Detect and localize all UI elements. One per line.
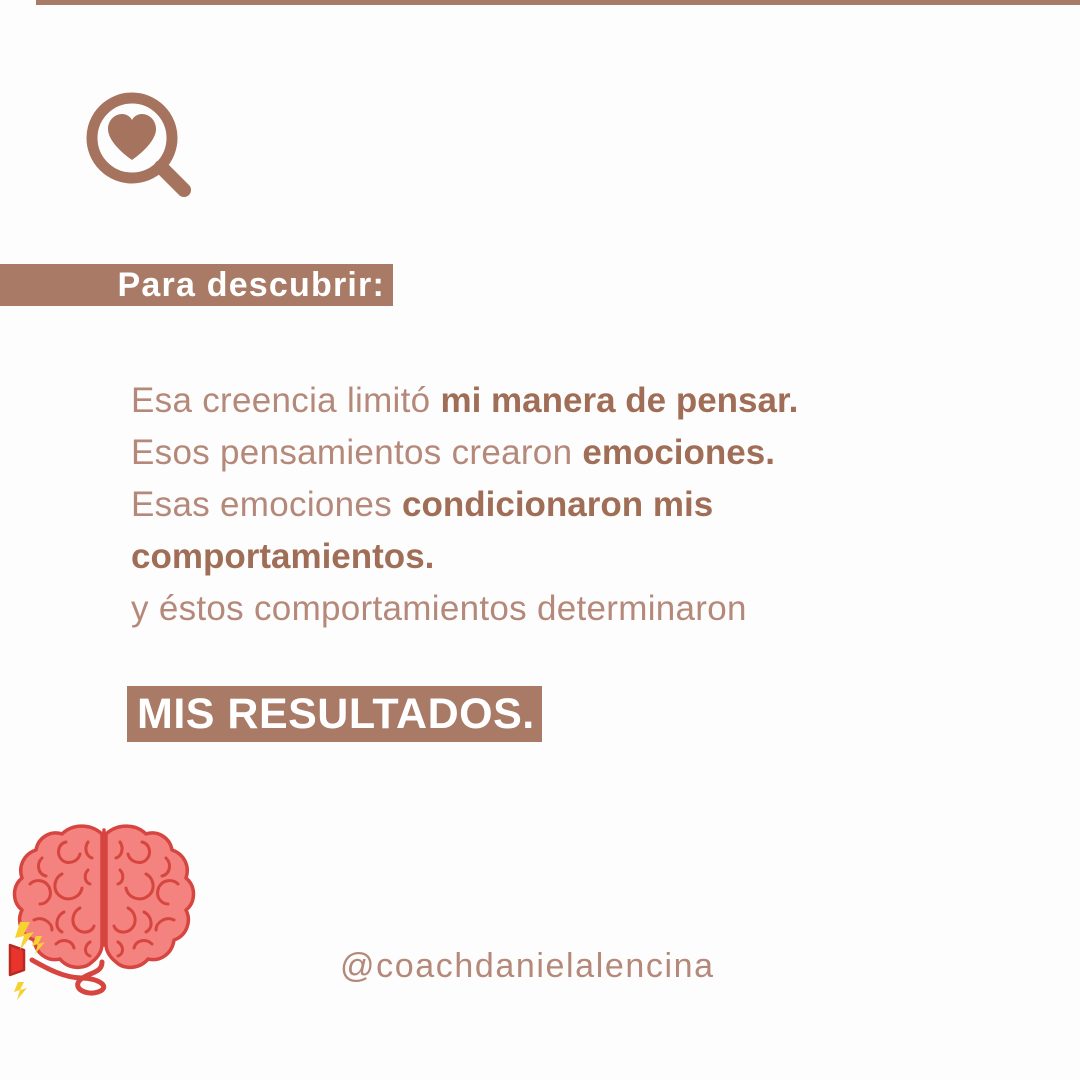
banner-para-descubrir-label: Para descubrir: (118, 268, 385, 302)
body-line-2: Esos pensamientos crearon emociones. (131, 427, 961, 479)
banner-mis-resultados-label: MIS RESULTADOS. (137, 693, 535, 736)
body-line-2-bold: emociones. (582, 433, 775, 472)
body-line-3-regular: Esas emociones (131, 485, 402, 524)
body-line-4-regular: y éstos comportamientos determinaron (131, 589, 747, 628)
magnifier-heart-icon (82, 88, 202, 208)
body-line-4: y éstos comportamientos determinaron (131, 583, 961, 635)
top-divider (36, 0, 1080, 5)
body-copy: Esa creencia limitó mi manera de pensar.… (131, 375, 961, 635)
brain-plug-icon (2, 812, 202, 1002)
body-line-2-regular: Esos pensamientos crearon (131, 433, 582, 472)
banner-mis-resultados: MIS RESULTADOS. (127, 686, 542, 742)
body-line-1-regular: Esa creencia limitó (131, 381, 440, 420)
body-line-1-bold: mi manera de pensar. (440, 381, 798, 420)
body-line-1: Esa creencia limitó mi manera de pensar. (131, 375, 961, 427)
body-line-3: Esas emociones condicionaron mis comport… (131, 479, 961, 583)
banner-para-descubrir: Para descubrir: (0, 264, 393, 306)
instagram-handle: @coachdanielalencina (340, 947, 715, 986)
